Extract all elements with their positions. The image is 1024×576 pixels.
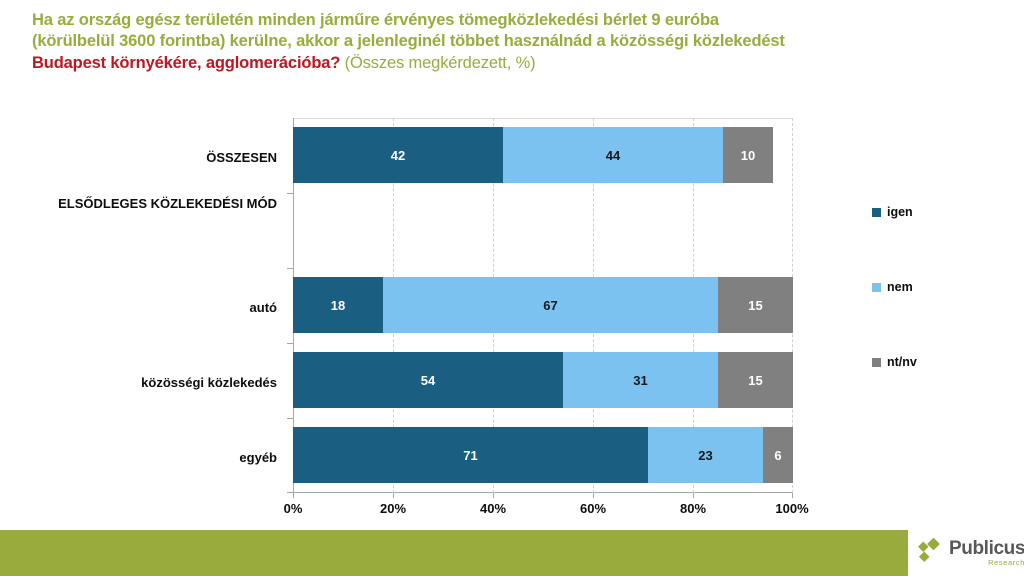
bar-row-egyeb[interactable]: 71 23 6 (293, 427, 793, 483)
legend-item-nem[interactable]: nem (872, 280, 913, 294)
title-subtitle: (Összes megkérdezett, %) (345, 54, 536, 72)
x-axis-tick-60 (593, 493, 594, 498)
bar-segment-igen[interactable]: 42 (293, 127, 503, 183)
legend-swatch-nem-icon (872, 283, 881, 292)
legend-item-ntnv[interactable]: nt/nv (872, 355, 917, 369)
plot-area: 42 44 10 18 67 15 54 31 15 71 23 6 0% 20… (293, 118, 793, 493)
category-label-kozossegi-kozlekedes: közösségi közlekedés (27, 375, 277, 391)
footer-band (0, 530, 908, 576)
brand-logo: Publicus Research (908, 530, 1024, 576)
y-axis-tick-4 (287, 418, 293, 419)
category-label-egyeb: egyéb (27, 450, 277, 466)
bar-segment-igen[interactable]: 71 (293, 427, 648, 483)
bar-segment-nem[interactable]: 23 (648, 427, 763, 483)
chart-container: 42 44 10 18 67 15 54 31 15 71 23 6 0% 20… (0, 100, 1024, 520)
title-highlight: Budapest környékére, agglomerációba? (32, 54, 340, 72)
legend-label-igen: igen (887, 205, 913, 219)
bar-segment-igen[interactable]: 18 (293, 277, 383, 333)
x-axis-tick-40 (493, 493, 494, 498)
category-label-elsodleges-kozlekedesi-mod: ELSŐDLEGES KÖZLEKEDÉSI MÓD (27, 196, 277, 212)
bar-segment-nem[interactable]: 67 (383, 277, 718, 333)
bar-segment-igen[interactable]: 54 (293, 352, 563, 408)
title-line-3: Budapest környékére, agglomerációba? (Ös… (32, 53, 932, 74)
title-line-2: (körülbelül 3600 forintba) kerülne, akko… (32, 31, 932, 52)
bar-segment-ntnv[interactable]: 6 (763, 427, 793, 483)
bar-row-kozossegi-kozlekedes[interactable]: 54 31 15 (293, 352, 793, 408)
x-axis-tick-100 (792, 493, 793, 498)
legend-label-nem: nem (887, 280, 913, 294)
y-axis-tick-1 (287, 193, 293, 194)
publicus-diamond-icon (918, 538, 944, 569)
x-axis-label-40: 40% (463, 501, 523, 516)
x-axis-tick-80 (693, 493, 694, 498)
bar-row-auto[interactable]: 18 67 15 (293, 277, 793, 333)
x-axis-label-20: 20% (363, 501, 423, 516)
y-axis-tick-2 (287, 268, 293, 269)
category-label-auto: autó (27, 300, 277, 316)
x-axis-label-100: 100% (762, 501, 822, 516)
x-axis-tick-0 (293, 493, 294, 498)
y-axis-tick-3 (287, 343, 293, 344)
logo-name: Publicus (949, 539, 1024, 558)
plot-frame-top (293, 118, 793, 119)
logo-subtitle: Research (949, 559, 1024, 567)
legend-item-igen[interactable]: igen (872, 205, 913, 219)
x-axis-label-0: 0% (263, 501, 323, 516)
chart-legend: igen nem nt/nv (872, 100, 992, 480)
plot-frame-bottom (293, 492, 793, 493)
bar-segment-nem[interactable]: 44 (503, 127, 723, 183)
x-axis-label-60: 60% (563, 501, 623, 516)
title-line-1: Ha az ország egész területén minden járm… (32, 10, 932, 31)
bar-segment-ntnv[interactable]: 15 (718, 352, 793, 408)
x-axis-label-80: 80% (663, 501, 723, 516)
legend-swatch-igen-icon (872, 208, 881, 217)
legend-swatch-ntnv-icon (872, 358, 881, 367)
bar-row-osszesen[interactable]: 42 44 10 (293, 127, 793, 183)
x-axis-tick-20 (393, 493, 394, 498)
logo-text: Publicus Research (949, 539, 1024, 567)
page-title: Ha az ország egész területén minden járm… (32, 10, 932, 74)
bar-segment-nem[interactable]: 31 (563, 352, 718, 408)
bar-segment-ntnv[interactable]: 10 (723, 127, 773, 183)
category-label-osszesen: ÖSSZESEN (27, 150, 277, 166)
legend-label-ntnv: nt/nv (887, 355, 917, 369)
bar-segment-ntnv[interactable]: 15 (718, 277, 793, 333)
